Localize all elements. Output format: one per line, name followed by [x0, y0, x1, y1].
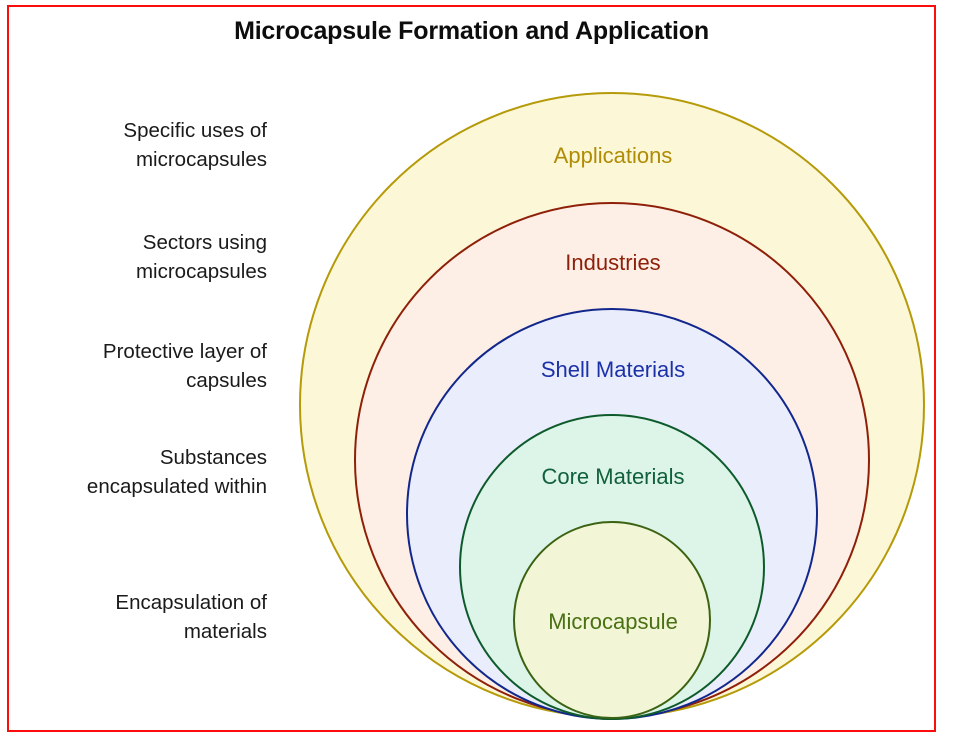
ring-label-industries: Industries [565, 250, 660, 276]
nested-circles-svg [0, 0, 955, 743]
diagram-canvas: Microcapsule Formation and Application S… [0, 0, 955, 743]
ring-label-shell-materials: Shell Materials [541, 357, 685, 383]
ring-label-applications: Applications [554, 143, 673, 169]
ring-label-microcapsule: Microcapsule [548, 609, 678, 635]
ring-label-core-materials: Core Materials [541, 464, 684, 490]
